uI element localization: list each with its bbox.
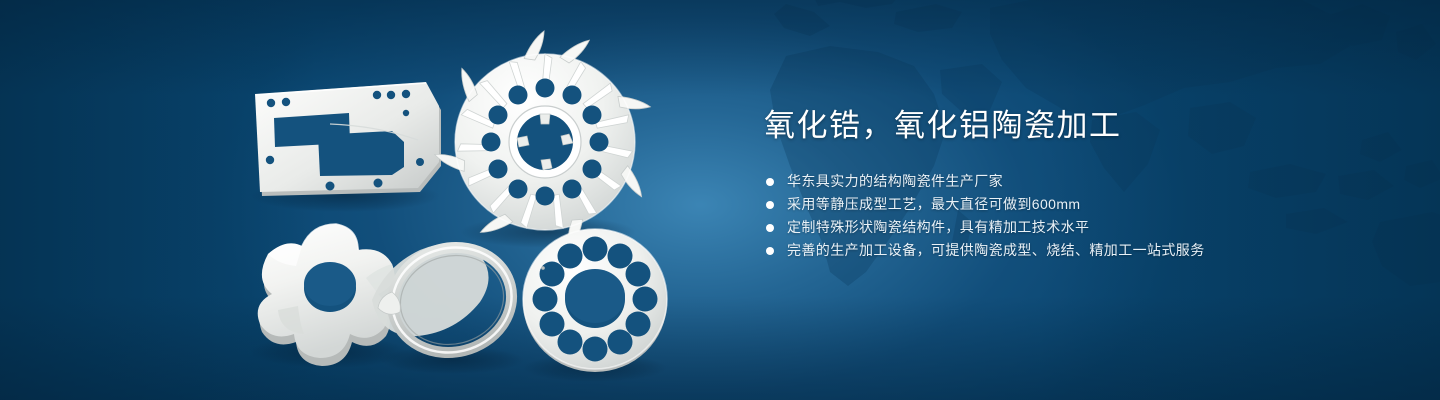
feature-text: 华东具实力的结构陶瓷件生产厂家	[787, 170, 1003, 193]
banner-copy: 氧化锆，氧化铝陶瓷加工 华东具实力的结构陶瓷件生产厂家 采用等静压成型工艺，最大…	[764, 106, 1384, 262]
list-item: 完善的生产加工设备，可提供陶瓷成型、烧结、精加工一站式服务	[764, 239, 1384, 262]
bullet-dot-icon	[766, 247, 774, 255]
feature-list: 华东具实力的结构陶瓷件生产厂家 采用等静压成型工艺，最大直径可做到600mm 定…	[764, 170, 1384, 262]
bullet-dot-icon	[766, 201, 774, 209]
ceramic-impeller-part	[435, 31, 651, 251]
list-item: 定制特殊形状陶瓷结构件，具有精加工技术水平	[764, 216, 1384, 239]
bullet-dot-icon	[766, 178, 774, 186]
feature-text: 定制特殊形状陶瓷结构件，具有精加工技术水平	[787, 216, 1089, 239]
list-item: 华东具实力的结构陶瓷件生产厂家	[764, 170, 1384, 193]
ceramic-perforated-disc-part	[523, 229, 667, 372]
feature-text: 采用等静压成型工艺，最大直径可做到600mm	[787, 193, 1080, 216]
list-item: 采用等静压成型工艺，最大直径可做到600mm	[764, 193, 1384, 216]
ceramic-plate-part	[255, 82, 441, 196]
feature-text: 完善的生产加工设备，可提供陶瓷成型、烧结、精加工一站式服务	[787, 239, 1205, 262]
page-title: 氧化锆，氧化铝陶瓷加工	[764, 106, 1384, 146]
product-photo-cluster	[0, 0, 740, 400]
product-banner: 氧化锆，氧化铝陶瓷加工 华东具实力的结构陶瓷件生产厂家 采用等静压成型工艺，最大…	[0, 0, 1440, 400]
bullet-dot-icon	[766, 224, 774, 232]
